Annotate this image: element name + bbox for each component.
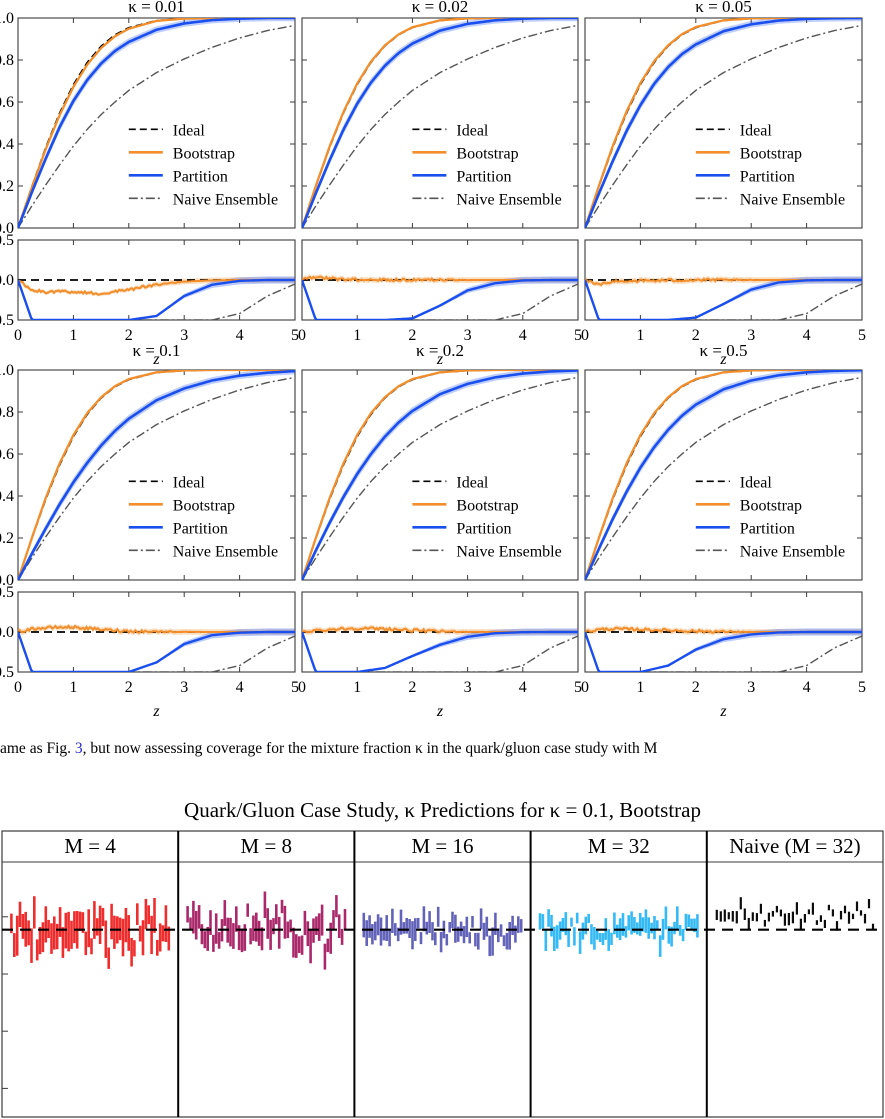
caption-suffix: , but now assessing coverage for the mix… [83, 740, 658, 757]
y-tick-label-main: 0.2 [0, 178, 14, 195]
coverage-panel-2: κ = 0.05IdealBootstrapPartitionNaive Ens… [581, 0, 866, 368]
panel-label-3: M = 32 [588, 834, 650, 858]
x-tick-label: 1 [353, 679, 361, 696]
y-tick-label-main: 0.4 [0, 136, 14, 153]
legend-label: Bootstrap [456, 497, 518, 514]
x-tick-label: 5 [858, 327, 866, 344]
y-tick-label-main: 0.8 [0, 404, 14, 421]
legend-label: Bootstrap [456, 145, 518, 162]
x-tick-label: 1 [353, 327, 361, 344]
panel-title-4: κ = 0.2 [416, 341, 464, 360]
coverage-grid-svg: κ = 0.010.00.20.40.60.81.0IdealBootstrap… [0, 0, 885, 730]
predictions-svg: M = 4M = 8M = 16M = 32Naive (M = 32) [0, 829, 885, 1119]
x-tick-label: 0 [581, 679, 589, 696]
y-tick-label-main: 0.6 [0, 446, 14, 463]
legend-label: Bootstrap [173, 497, 235, 514]
y-tick-label-main: 0.6 [0, 94, 14, 111]
legend-label: Bootstrap [173, 145, 235, 162]
panel-label-4: Naive (M = 32) [729, 834, 860, 858]
y-tick-label-main: 1.0 [0, 362, 14, 379]
legend-label: Ideal [456, 474, 489, 491]
predictions-title: Quark/Gluon Case Study, κ Predictions fo… [0, 795, 885, 825]
coverage-panel-5: κ = 0.5IdealBootstrapPartitionNaive Ense… [581, 341, 866, 720]
y-tick-label-residual: 0.0 [0, 272, 14, 289]
x-tick-label: 0 [298, 327, 306, 344]
predictions-figure: Quark/Gluon Case Study, κ Predictions fo… [0, 795, 885, 1119]
legend-label: Ideal [740, 122, 773, 139]
x-axis-label: z [719, 703, 727, 720]
y-tick-label-residual: -0.5 [0, 664, 14, 681]
x-tick-label: 0 [14, 679, 22, 696]
legend-label: Partition [456, 168, 511, 185]
legend-label: Naive Ensemble [740, 543, 845, 560]
panel-label-0: M = 4 [64, 834, 116, 858]
coverage-panel-1: κ = 0.02IdealBootstrapPartitionNaive Ens… [298, 0, 582, 368]
y-tick-label-main: 1.0 [0, 10, 14, 27]
y-tick-label-residual: -0.5 [0, 312, 14, 329]
x-tick-label: 4 [803, 327, 811, 344]
legend-label: Partition [740, 168, 795, 185]
x-tick-label: 4 [519, 327, 527, 344]
x-tick-label: 1 [69, 679, 77, 696]
panel-title-0: κ = 0.01 [128, 0, 184, 16]
x-tick-label: 3 [747, 679, 755, 696]
y-tick-label-main: 0.8 [0, 52, 14, 69]
x-tick-label: 0 [581, 327, 589, 344]
y-tick-label-main: 0.4 [0, 488, 14, 505]
caption-figure-reference[interactable]: 3 [75, 740, 83, 757]
x-tick-label: 1 [69, 327, 77, 344]
x-tick-label: 1 [636, 327, 644, 344]
legend-label: Naive Ensemble [456, 543, 561, 560]
x-axis-label: z [436, 703, 444, 720]
legend-label: Naive Ensemble [173, 543, 278, 560]
caption-prefix: ame as Fig. [0, 740, 75, 757]
x-tick-label: 4 [236, 679, 244, 696]
legend-label: Partition [173, 520, 228, 537]
panel-label-1: M = 8 [241, 834, 293, 858]
predictions-frame [2, 831, 883, 1117]
panel-title-1: κ = 0.02 [412, 0, 468, 16]
y-tick-label-residual: 0.5 [0, 232, 14, 249]
y-tick-label-residual: 0.5 [0, 584, 14, 601]
x-tick-label: 3 [464, 679, 472, 696]
legend-label: Partition [456, 520, 511, 537]
legend-label: Partition [740, 520, 795, 537]
legend-label: Naive Ensemble [740, 191, 845, 208]
legend-label: Naive Ensemble [456, 191, 561, 208]
x-tick-label: 0 [298, 679, 306, 696]
panel-label-2: M = 16 [411, 834, 473, 858]
coverage-panel-4: κ = 0.2IdealBootstrapPartitionNaive Ense… [298, 341, 582, 720]
y-tick-label-residual: 0.0 [0, 624, 14, 641]
panel-title-3: κ = 0.1 [133, 341, 181, 360]
panel-title-2: κ = 0.05 [695, 0, 751, 16]
x-tick-label: 4 [803, 679, 811, 696]
legend-label: Bootstrap [740, 497, 802, 514]
x-tick-label: 1 [636, 679, 644, 696]
x-tick-label: 3 [464, 327, 472, 344]
x-tick-label: 3 [180, 679, 188, 696]
legend-label: Ideal [173, 474, 206, 491]
x-tick-label: 2 [408, 679, 416, 696]
legend-label: Ideal [740, 474, 773, 491]
x-tick-label: 3 [180, 327, 188, 344]
legend-label: Ideal [173, 122, 206, 139]
legend-label: Partition [173, 168, 228, 185]
x-tick-label: 2 [692, 679, 700, 696]
coverage-panel-3: κ = 0.10.00.20.40.60.81.0IdealBootstrapP… [0, 341, 299, 720]
panel-title-5: κ = 0.5 [700, 341, 748, 360]
x-tick-label: 0 [14, 327, 22, 344]
legend-label: Bootstrap [740, 145, 802, 162]
x-tick-label: 3 [747, 327, 755, 344]
x-tick-label: 2 [125, 679, 133, 696]
legend-label: Naive Ensemble [173, 191, 278, 208]
coverage-figure: κ = 0.010.00.20.40.60.81.0IdealBootstrap… [0, 0, 885, 730]
x-tick-label: 4 [236, 327, 244, 344]
x-axis-label: z [152, 703, 160, 720]
coverage-panel-0: κ = 0.010.00.20.40.60.81.0IdealBootstrap… [0, 0, 299, 368]
x-tick-label: 4 [519, 679, 527, 696]
legend-label: Ideal [456, 122, 489, 139]
x-tick-label: 5 [858, 679, 866, 696]
y-tick-label-main: 0.2 [0, 530, 14, 547]
figure-caption: ame as Fig. 3, but now assessing coverag… [0, 738, 885, 768]
